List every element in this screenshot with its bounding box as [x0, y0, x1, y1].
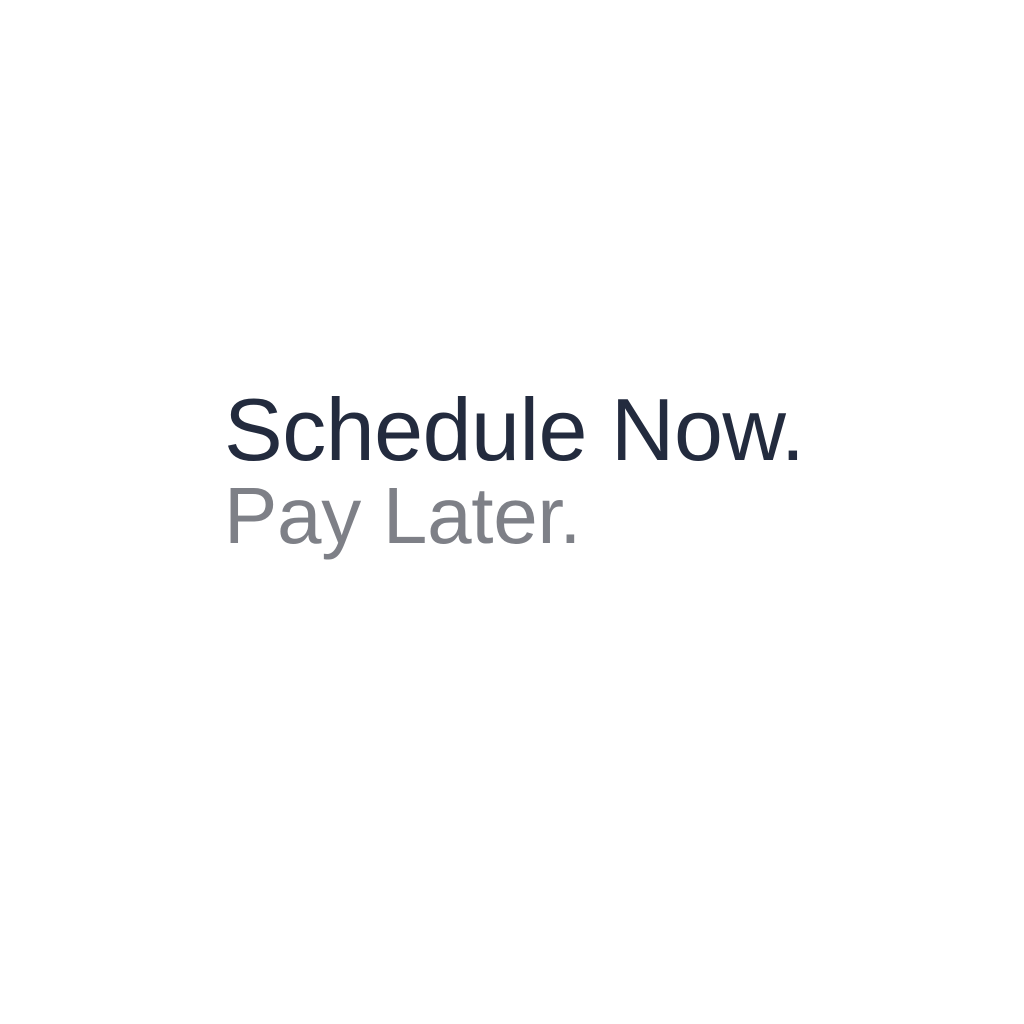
page-canvas: Schedule Now. Pay Later. — [0, 0, 1024, 1024]
headline-primary-line: Schedule Now. — [224, 386, 884, 474]
headline-secondary-line: Pay Later. — [224, 474, 884, 558]
headline-block: Schedule Now. Pay Later. — [224, 386, 884, 558]
